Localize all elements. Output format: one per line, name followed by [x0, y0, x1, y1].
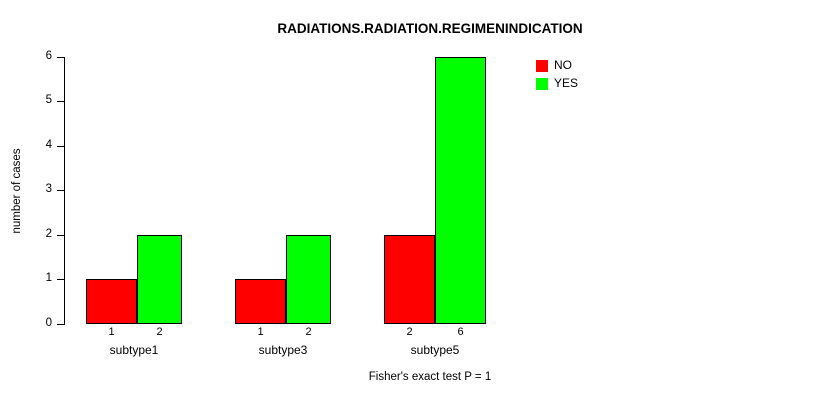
y-axis-tick-2	[57, 235, 64, 236]
y-axis-line	[64, 57, 65, 325]
group-label-subtype3: subtype3	[228, 344, 338, 356]
bar-label-subtype1-no: 1	[86, 327, 137, 338]
bar-label-subtype1-yes: 2	[137, 327, 182, 338]
bar-subtype1-yes	[137, 235, 182, 324]
statistical-test-note: Fisher's exact test P = 1	[0, 371, 840, 383]
legend-swatch-no-icon	[536, 60, 548, 72]
bar-label-subtype5-no: 2	[384, 327, 435, 338]
group-label-subtype1: subtype1	[79, 344, 189, 356]
y-axis-tick-label-6: 6	[0, 51, 52, 62]
bar-label-subtype3-yes: 2	[286, 327, 331, 338]
group-label-subtype5: subtype5	[380, 344, 490, 356]
y-axis-tick-4	[57, 146, 64, 147]
bar-label-subtype3-no: 1	[235, 327, 286, 338]
y-axis-tick-6	[57, 57, 64, 58]
y-axis-tick-label-3: 3	[0, 184, 52, 195]
y-axis-tick-label-5: 5	[0, 95, 52, 106]
plot-area: 0 1 2 3 4 5 6 number of cases 1 2 subtyp…	[0, 0, 840, 400]
bar-subtype3-no	[235, 279, 286, 324]
bar-subtype1-no	[86, 279, 137, 324]
y-axis-title: number of cases	[11, 131, 23, 251]
chart-canvas: RADIATIONS.RADIATION.REGIMENINDICATION 0…	[0, 0, 840, 400]
y-axis-tick-label-1: 1	[0, 273, 52, 284]
y-axis-tick-0	[57, 324, 64, 325]
bar-subtype5-yes	[435, 57, 486, 324]
bar-subtype5-no	[384, 235, 435, 324]
legend-label-no: NO	[554, 59, 572, 72]
legend-label-yes: YES	[554, 77, 578, 90]
legend-swatch-yes-icon	[536, 78, 548, 90]
bar-label-subtype5-yes: 6	[435, 327, 486, 338]
y-axis-tick-1	[57, 279, 64, 280]
y-axis-tick-label-2: 2	[0, 229, 52, 240]
y-axis-tick-label-4: 4	[0, 140, 52, 151]
bar-subtype3-yes	[286, 235, 331, 324]
y-axis-tick-3	[57, 190, 64, 191]
y-axis-tick-label-0: 0	[0, 318, 52, 329]
y-axis-tick-5	[57, 101, 64, 102]
